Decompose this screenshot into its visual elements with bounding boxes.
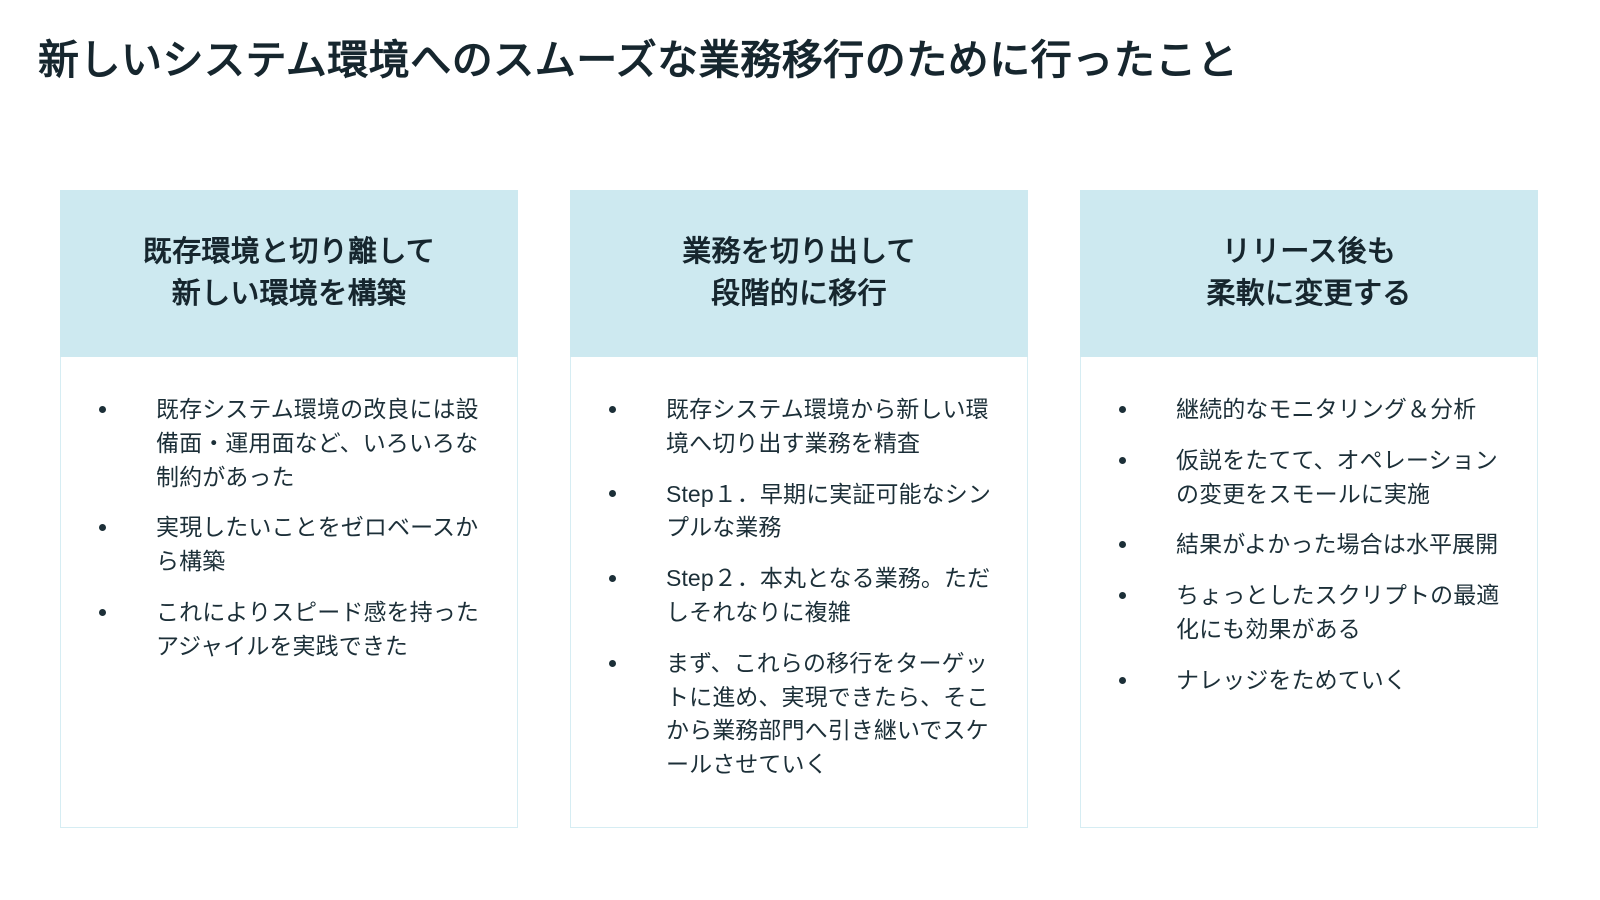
- bullet-text: 既存システム環境の改良には設備面・運用面など、いろいろな制約があった: [156, 393, 499, 494]
- card-header-3: リリース後も 柔軟に変更する: [1080, 190, 1538, 357]
- page-title: 新しいシステム環境へのスムーズな業務移行のために行ったこと: [38, 36, 1538, 85]
- bullet-text: 継続的なモニタリング＆分析: [1176, 393, 1519, 427]
- bullet-text: Step１．早期に実証可能なシンプルな業務: [666, 478, 1009, 546]
- list-item: 継続的なモニタリング＆分析: [1099, 393, 1519, 427]
- list-item: ナレッジをためていく: [1099, 664, 1519, 698]
- bullet-dot-icon: [609, 660, 616, 667]
- bullet-dot-icon: [99, 609, 106, 616]
- card-header-title-1: 既存環境と切り離して 新しい環境を構築: [143, 232, 435, 314]
- bullet-text: これによりスピード感を持ったアジャイルを実践できた: [156, 596, 499, 664]
- card-body-2: 既存システム環境から新しい環境へ切り出す業務を精査 Step１．早期に実証可能な…: [570, 357, 1028, 828]
- list-item: 結果がよかった場合は水平展開: [1099, 528, 1519, 562]
- bullet-dot-icon: [1119, 592, 1126, 599]
- list-item: 既存システム環境の改良には設備面・運用面など、いろいろな制約があった: [79, 393, 499, 494]
- card-group: 既存環境と切り離して 新しい環境を構築 既存システム環境の改良には設備面・運用面…: [60, 190, 1538, 828]
- card-header-1: 既存環境と切り離して 新しい環境を構築: [60, 190, 518, 357]
- bullet-dot-icon: [609, 490, 616, 497]
- list-item: まず、これらの移行をターゲットに進め、実現できたら、そこから業務部門へ引き継いで…: [589, 647, 1009, 782]
- card-post-release: リリース後も 柔軟に変更する 継続的なモニタリング＆分析 仮説をたてて、オペレー…: [1080, 190, 1538, 828]
- bullet-dot-icon: [609, 406, 616, 413]
- bullet-text: ちょっとしたスクリプトの最適化にも効果がある: [1176, 579, 1519, 647]
- card-header-2: 業務を切り出して 段階的に移行: [570, 190, 1028, 357]
- bullet-text: Step２．本丸となる業務。ただしそれなりに複雑: [666, 562, 1009, 630]
- bullet-text: ナレッジをためていく: [1176, 664, 1519, 698]
- bullet-dot-icon: [1119, 406, 1126, 413]
- list-item: 既存システム環境から新しい環境へ切り出す業務を精査: [589, 393, 1009, 461]
- card-body-3: 継続的なモニタリング＆分析 仮説をたてて、オペレーションの変更をスモールに実施 …: [1080, 357, 1538, 828]
- list-item: 仮説をたてて、オペレーションの変更をスモールに実施: [1099, 444, 1519, 512]
- list-item: ちょっとしたスクリプトの最適化にも効果がある: [1099, 579, 1519, 647]
- bullet-dot-icon: [1119, 541, 1126, 548]
- bullet-list-3: 継続的なモニタリング＆分析 仮説をたてて、オペレーションの変更をスモールに実施 …: [1099, 393, 1519, 698]
- bullet-dot-icon: [99, 524, 106, 531]
- card-phased-migration: 業務を切り出して 段階的に移行 既存システム環境から新しい環境へ切り出す業務を精…: [570, 190, 1028, 828]
- bullet-text: 既存システム環境から新しい環境へ切り出す業務を精査: [666, 393, 1009, 461]
- bullet-text: 実現したいことをゼロベースから構築: [156, 511, 499, 579]
- list-item: Step２．本丸となる業務。ただしそれなりに複雑: [589, 562, 1009, 630]
- bullet-dot-icon: [99, 406, 106, 413]
- bullet-dot-icon: [609, 575, 616, 582]
- bullet-list-1: 既存システム環境の改良には設備面・運用面など、いろいろな制約があった 実現したい…: [79, 393, 499, 664]
- list-item: 実現したいことをゼロベースから構築: [79, 511, 499, 579]
- list-item: これによりスピード感を持ったアジャイルを実践できた: [79, 596, 499, 664]
- slide-canvas: 新しいシステム環境へのスムーズな業務移行のために行ったこと 既存環境と切り離して…: [0, 0, 1600, 900]
- bullet-text: まず、これらの移行をターゲットに進め、実現できたら、そこから業務部門へ引き継いで…: [666, 647, 1009, 782]
- card-existing-environment: 既存環境と切り離して 新しい環境を構築 既存システム環境の改良には設備面・運用面…: [60, 190, 518, 828]
- bullet-list-2: 既存システム環境から新しい環境へ切り出す業務を精査 Step１．早期に実証可能な…: [589, 393, 1009, 782]
- bullet-text: 仮説をたてて、オペレーションの変更をスモールに実施: [1176, 444, 1519, 512]
- card-body-1: 既存システム環境の改良には設備面・運用面など、いろいろな制約があった 実現したい…: [60, 357, 518, 828]
- bullet-dot-icon: [1119, 457, 1126, 464]
- card-header-title-3: リリース後も 柔軟に変更する: [1206, 232, 1411, 314]
- bullet-dot-icon: [1119, 677, 1126, 684]
- card-header-title-2: 業務を切り出して 段階的に移行: [682, 232, 916, 314]
- bullet-text: 結果がよかった場合は水平展開: [1176, 528, 1519, 562]
- list-item: Step１．早期に実証可能なシンプルな業務: [589, 478, 1009, 546]
